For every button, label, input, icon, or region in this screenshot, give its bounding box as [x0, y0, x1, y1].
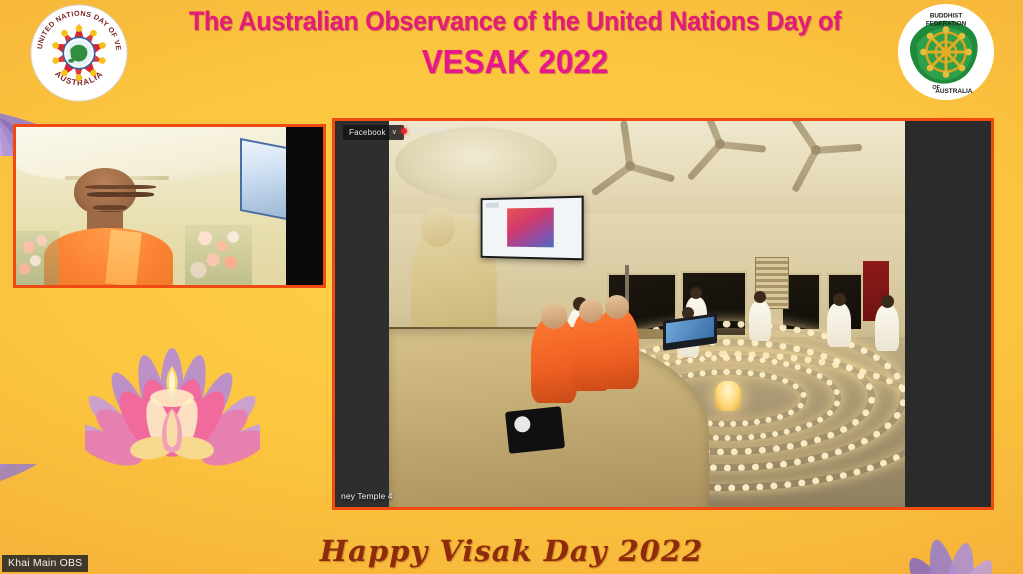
devotee-head — [754, 291, 766, 303]
webcam-flower-arrangement-right — [185, 225, 253, 285]
webcam-pillarbox-right — [286, 127, 323, 285]
main-stream-panel[interactable]: Facebook ∨ Recording ney Temple 4 — [332, 118, 994, 510]
event-title-block: The Australian Observance of the United … — [140, 6, 890, 81]
devotee-head — [833, 293, 846, 306]
wall-mounted-tv — [481, 196, 584, 261]
buddhist-federation-of-australia-logo: BUDDHIST FEDERATION OF AUSTRALIA — [897, 2, 995, 102]
un-day-of-vesak-australia-logo: THE UNITED NATIONS DAY OF VESAK AUSTRALI… — [30, 4, 128, 102]
recording-dot-icon — [401, 128, 407, 134]
buddha-statue-head — [421, 207, 455, 247]
webcam-window-panel — [240, 138, 292, 221]
monk-figure — [595, 309, 639, 389]
logo-right-line2: FEDERATION — [926, 21, 967, 28]
tv-ui-bar — [486, 203, 499, 207]
devotee-head — [690, 287, 702, 299]
ceiling-fan-icon — [675, 129, 765, 155]
devotee-figure — [827, 303, 851, 347]
presenter-webcam-panel[interactable] — [13, 124, 326, 288]
laptop-screen — [666, 317, 714, 344]
webcam-video-feed — [16, 127, 323, 285]
logo-right-line1: BUDDHIST — [930, 13, 963, 20]
broadcast-stage: THE UNITED NATIONS DAY OF VESAK AUSTRALI… — [0, 0, 1023, 574]
devotee-head — [881, 295, 894, 308]
happy-visak-day-text: Happy Visak Day 2022 — [0, 534, 1023, 568]
event-title-line2: VESAK 2022 — [159, 43, 872, 81]
obs-source-label: Khai Main OBS — [2, 555, 88, 572]
temple-scene — [389, 121, 905, 507]
chevron-down-icon: ∨ — [392, 129, 397, 136]
monk-head — [541, 303, 567, 329]
video-pillarbox-right — [905, 121, 991, 507]
buddha-canopy — [395, 127, 557, 201]
recording-status: Recording — [401, 126, 447, 135]
devotee-figure — [875, 305, 899, 351]
devotee-figure — [749, 301, 771, 341]
presenter-moustache — [93, 205, 127, 210]
ceiling-fan-icon — [771, 135, 861, 161]
presenter-eye-right — [114, 192, 154, 197]
stream-source-name: ney Temple 4 — [341, 491, 393, 501]
lotus-with-candle-graphic — [85, 348, 260, 488]
event-header: THE UNITED NATIONS DAY OF VESAK AUSTRALI… — [0, 0, 1023, 108]
video-pillarbox-left — [335, 121, 389, 507]
stream-destination-selector[interactable]: Facebook ∨ — [343, 125, 404, 140]
presenter-robe-fold — [105, 230, 141, 287]
tv-screen-content — [507, 208, 555, 247]
video-camera-equipment — [505, 406, 565, 454]
recording-label: Recording — [411, 126, 447, 135]
logo-right-line4: AUSTRALIA — [935, 88, 973, 95]
webcam-flower-arrangement-left — [16, 231, 59, 285]
stream-destination-label: Facebook — [349, 128, 386, 137]
event-title-line1: The Australian Observance of the United … — [166, 6, 864, 37]
ceiling-fan-icon — [585, 151, 675, 177]
monk-head — [605, 295, 629, 319]
